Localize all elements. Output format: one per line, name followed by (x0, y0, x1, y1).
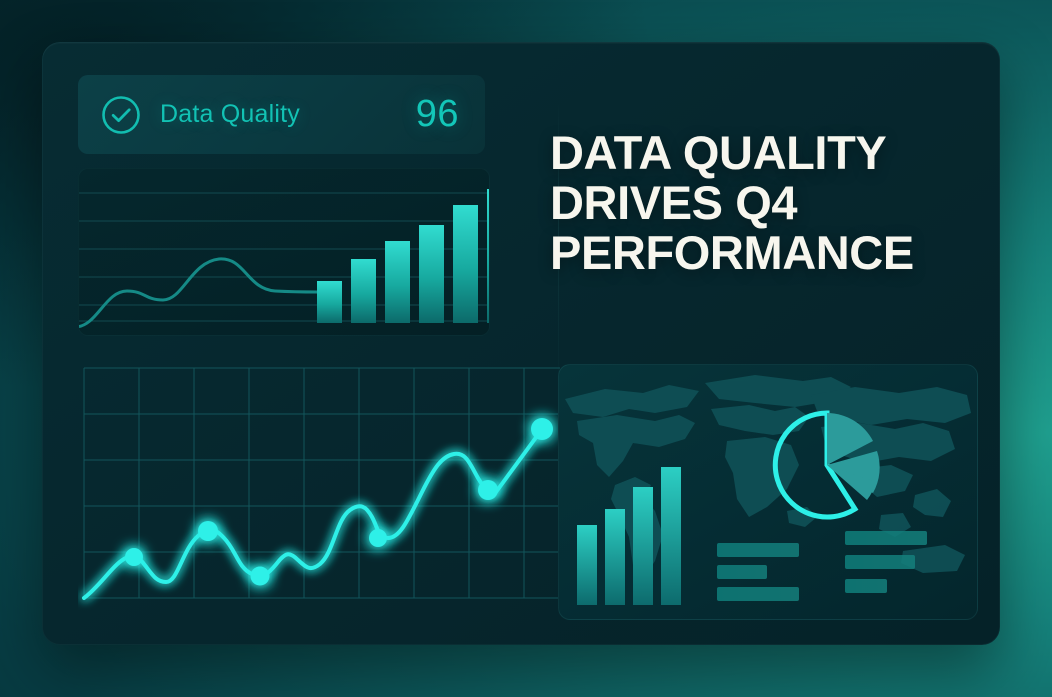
text-block-left (717, 543, 799, 601)
main-chart-data-points (125, 418, 553, 586)
headline-line-1: DATA QUALITY (550, 128, 982, 178)
headline-line-3: PERFORMANCE (550, 228, 982, 278)
text-bar (845, 531, 927, 545)
mini-combo-chart[interactable] (78, 168, 490, 336)
kpi-value: 96 (416, 93, 459, 136)
mini-bar (633, 487, 653, 605)
data-point (531, 418, 553, 440)
text-block-right (845, 531, 927, 593)
data-point (198, 521, 218, 541)
headline: DATA QUALITY DRIVES Q4 PERFORMANCE (550, 128, 982, 277)
data-point (478, 480, 498, 500)
main-chart-line (84, 432, 540, 598)
data-point (125, 548, 143, 566)
poster-canvas: Data Quality 96 (0, 0, 1052, 697)
kpi-badge-data-quality[interactable]: Data Quality 96 (78, 75, 485, 154)
mini-bar (605, 509, 625, 605)
data-point (369, 529, 387, 547)
kpi-label: Data Quality (160, 100, 300, 129)
headline-line-2: DRIVES Q4 (550, 178, 982, 228)
text-bar (845, 579, 887, 593)
mini-bar (661, 467, 681, 605)
text-bar (717, 543, 799, 557)
data-point (251, 567, 270, 586)
check-circle-icon (100, 94, 142, 136)
text-bar (717, 565, 767, 579)
dashboard-card: Data Quality 96 (42, 42, 1000, 645)
mini-bar (577, 525, 597, 605)
text-bar (717, 587, 799, 601)
text-bar (845, 555, 915, 569)
main-line-chart[interactable] (78, 360, 562, 622)
world-map-icon (559, 365, 977, 619)
world-map-panel[interactable] (558, 364, 978, 620)
